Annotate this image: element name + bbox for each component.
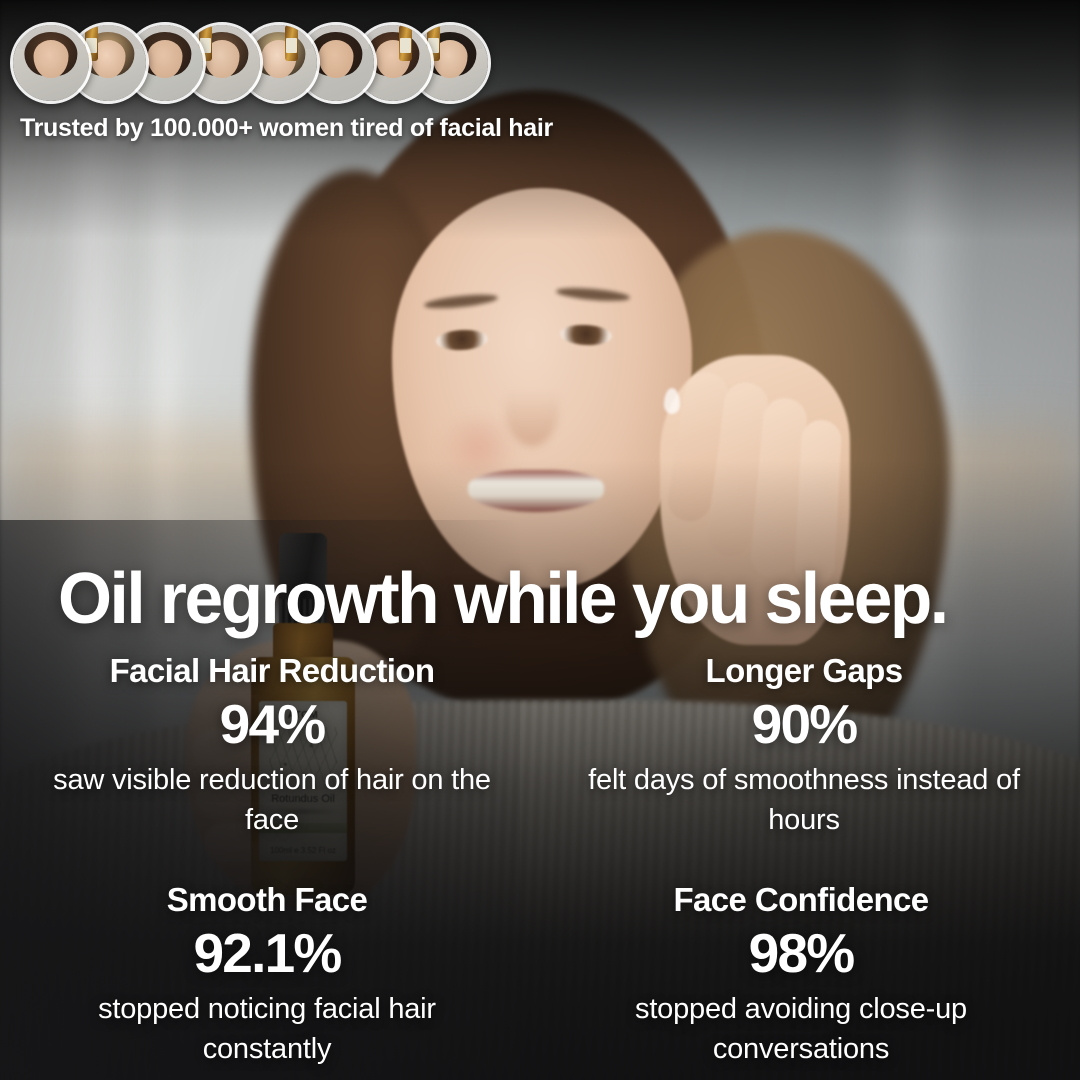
stat-card-smooth-face: Smooth Face 92.1% stopped noticing facia… xyxy=(24,881,540,1080)
stat-description: saw visible reduction of hair on the fac… xyxy=(30,760,514,841)
stat-title: Facial Hair Reduction xyxy=(30,652,514,691)
stat-title: Smooth Face xyxy=(30,881,504,920)
avatar-product-bottle xyxy=(399,25,412,61)
stat-card-longer-gaps: Longer Gaps 90% felt days of smoothness … xyxy=(540,652,1056,851)
stat-description: stopped noticing facial hair constantly xyxy=(30,989,504,1070)
stat-description: felt days of smoothness instead of hours xyxy=(570,760,1038,841)
stat-value: 98% xyxy=(562,921,1040,986)
avatar-1 xyxy=(10,22,92,104)
avatar-group xyxy=(10,22,1080,108)
stat-value: 94% xyxy=(30,692,514,757)
avatar-face xyxy=(148,40,183,78)
avatar-face xyxy=(319,40,354,78)
ad-creative: ATOM Rotundus Oil 100ml e 3.52 Fl oz Tru… xyxy=(0,0,1080,1080)
stat-title: Longer Gaps xyxy=(570,652,1038,691)
page-title: Oil regrowth while you sleep. xyxy=(58,563,1015,635)
stat-card-face-confidence: Face Confidence 98% stopped avoiding clo… xyxy=(540,881,1056,1080)
stat-title: Face Confidence xyxy=(562,881,1040,920)
stat-card-facial-hair-reduction: Facial Hair Reduction 94% saw visible re… xyxy=(24,652,540,851)
avatar-face xyxy=(34,40,69,78)
stats-grid: Facial Hair Reduction 94% saw visible re… xyxy=(0,652,1080,1080)
stat-value: 90% xyxy=(570,692,1038,757)
avatar-product-bottle xyxy=(285,25,298,61)
trust-bar-text: Trusted by 100.000+ women tired of facia… xyxy=(10,114,1080,143)
stat-value: 92.1% xyxy=(30,921,504,986)
trust-bar: Trusted by 100.000+ women tired of facia… xyxy=(0,0,1080,143)
stat-description: stopped avoiding close-up conversations xyxy=(562,989,1040,1070)
